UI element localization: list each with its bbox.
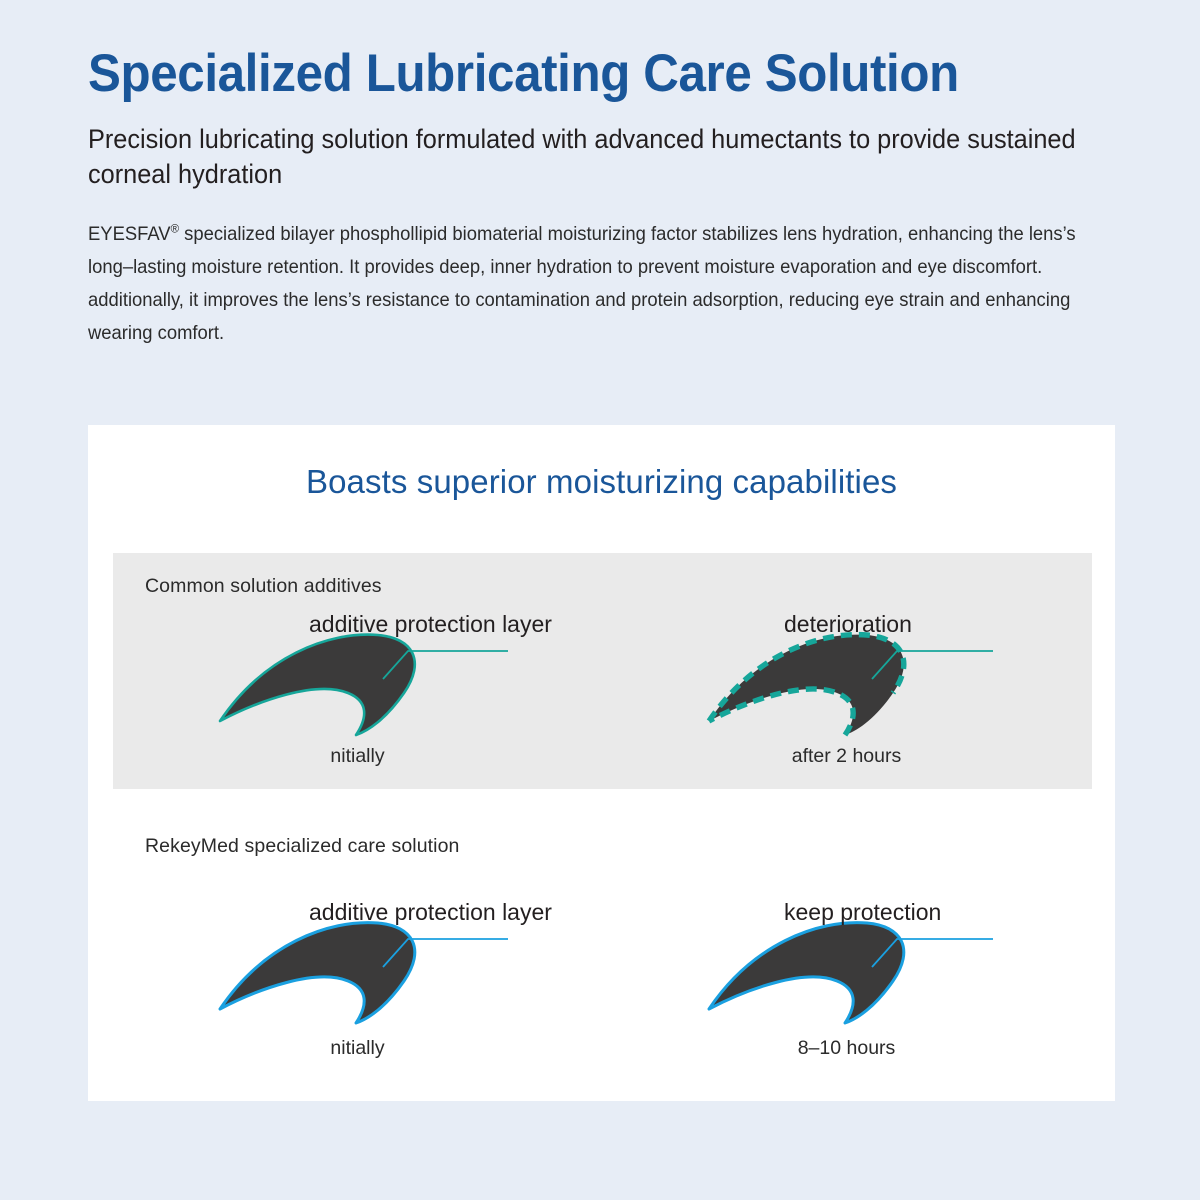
lens-cell-initial: additive protection layer nitially: [113, 897, 602, 1067]
brand-name: EYESFAV: [88, 224, 171, 245]
callout-label: deterioration: [784, 611, 912, 638]
panel-common-additives: Common solution additives additive prote…: [113, 553, 1092, 789]
callout-label: keep protection: [784, 899, 941, 926]
lens-caption: nitially: [113, 745, 602, 768]
page-title: Specialized Lubricating Care Solution: [88, 44, 1074, 103]
page-root: Specialized Lubricating Care Solution Pr…: [0, 0, 1200, 1200]
lens-caption: after 2 hours: [602, 745, 1091, 768]
lens-row: additive protection layer nitially deter…: [113, 609, 1092, 779]
callout-label: additive protection layer: [309, 899, 552, 926]
header-block: Specialized Lubricating Care Solution Pr…: [88, 44, 1148, 350]
lens-cell-initial: additive protection layer nitially: [113, 609, 602, 779]
callout-label: additive protection layer: [309, 611, 552, 638]
body-paragraph-text: specialized bilayer phosphollipid biomat…: [88, 224, 1076, 344]
lens-caption: nitially: [113, 1037, 602, 1060]
panel-rekeymed-solution: RekeyMed specialized care solution addit…: [113, 789, 1092, 1081]
page-subtitle: Precision lubricating solution formulate…: [88, 122, 1105, 192]
lens-caption: 8–10 hours: [602, 1037, 1091, 1060]
lens-row: additive protection layer nitially keep …: [113, 897, 1092, 1067]
feature-card: Boasts superior moisturizing capabilitie…: [88, 425, 1115, 1101]
lens-cell-after-2-hours: deterioration after 2 hours: [602, 609, 1091, 779]
panel-label: Common solution additives: [145, 575, 382, 598]
card-title: Boasts superior moisturizing capabilitie…: [88, 463, 1115, 501]
panel-label: RekeyMed specialized care solution: [145, 835, 459, 858]
registered-mark-icon: ®: [171, 222, 179, 236]
body-paragraph: EYESFAV® specialized bilayer phosphollip…: [88, 218, 1125, 350]
lens-cell-8-10-hours: keep protection 8–10 hours: [602, 897, 1091, 1067]
